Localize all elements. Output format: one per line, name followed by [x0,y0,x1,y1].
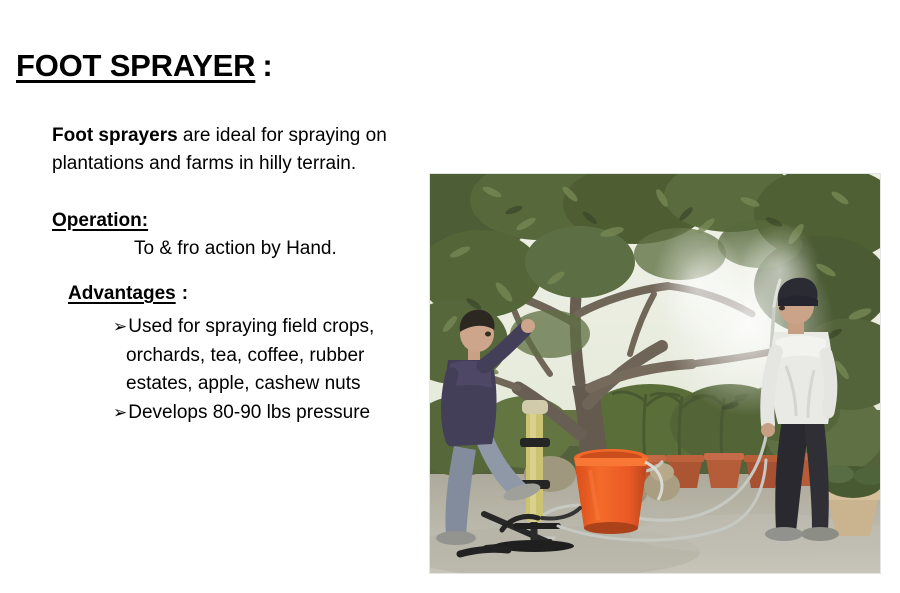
page-title: FOOT SPRAYER: [16,48,272,84]
advantages-heading-text: Advantages [68,283,176,304]
advantages-list: ➢Used for spraying field crops, orchards… [113,313,413,427]
foot-sprayer-photo [430,174,880,573]
operation-heading: Operation: [52,210,148,232]
list-item: ➢Develops 80-90 lbs pressure [113,399,413,428]
page-title-text: FOOT SPRAYER [16,48,255,83]
photo-illustration [430,174,880,573]
list-item: ➢Used for spraying field crops, orchards… [113,313,413,399]
operation-body: To & fro action by Hand. [134,238,337,260]
page-title-colon: : [255,48,272,83]
bullet-arrow-icon: ➢ [113,317,127,336]
list-item-label: Develops 80-90 lbs pressure [128,402,370,423]
advantages-heading-colon: : [176,283,188,304]
list-item-label: Used for spraying field crops, orchards,… [126,316,374,394]
advantages-heading: Advantages: [68,283,188,305]
intro-lead-bold: Foot sprayers [52,125,178,146]
slide-canvas: FOOT SPRAYER: Foot sprayers are ideal fo… [0,0,900,593]
intro-paragraph: Foot sprayers are ideal for spraying on … [52,122,412,178]
bullet-arrow-icon: ➢ [113,403,127,422]
